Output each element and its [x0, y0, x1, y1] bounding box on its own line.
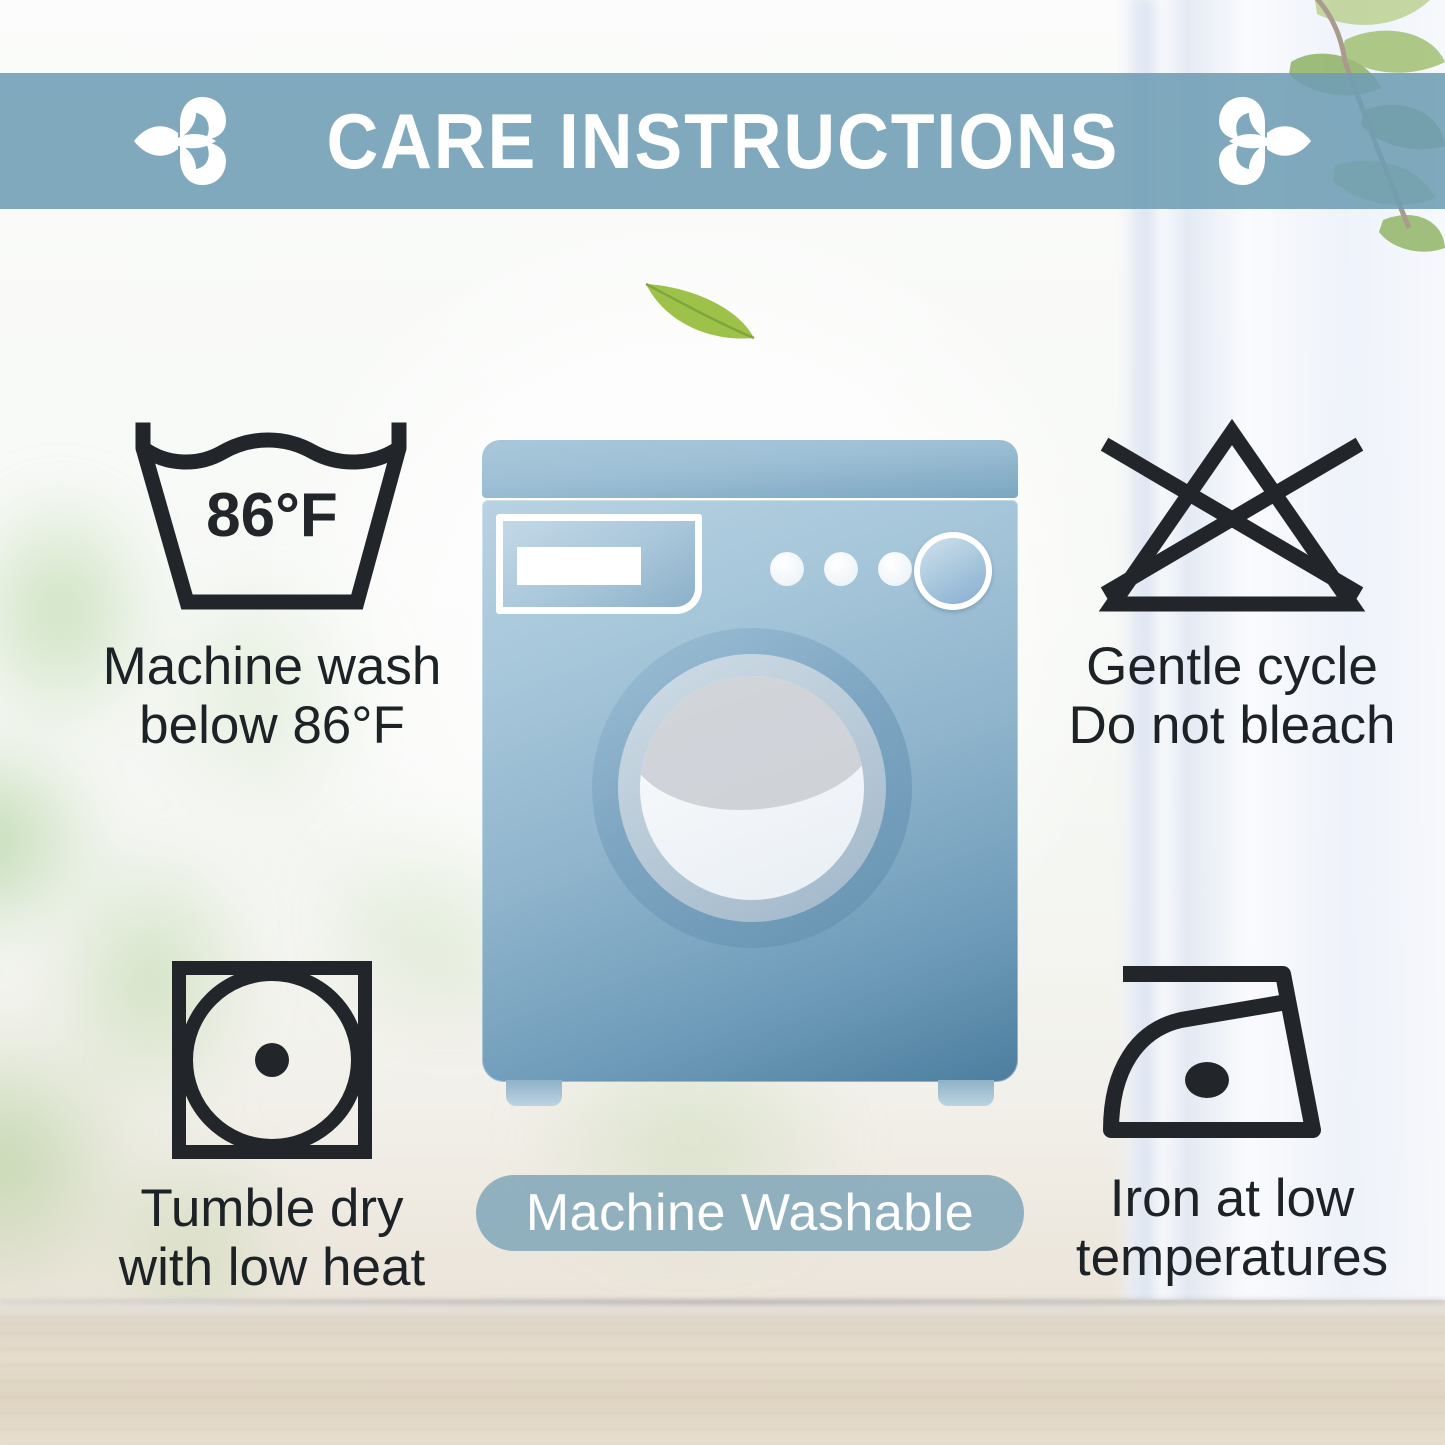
banner: CARE INSTRUCTIONS	[0, 73, 1445, 209]
porthole-glass	[640, 676, 864, 900]
wood-table-edge-line	[0, 1299, 1445, 1305]
fleur-de-lis-icon	[1201, 89, 1319, 193]
porthole-glass-reflection	[640, 676, 864, 810]
washing-machine-top-lid	[482, 440, 1018, 498]
care-icon-machine-wash: 86°F Machine wash below 86°F	[62, 418, 482, 756]
care-icon-do-not-bleach: Gentle cycle Do not bleach	[1022, 418, 1442, 756]
status-badge-label: Machine Washable	[526, 1183, 974, 1243]
care-icon-label: Gentle cycle Do not bleach	[1068, 637, 1395, 756]
wash-tub-icon: 86°F	[127, 418, 417, 623]
care-icon-iron-low: Iron at low temperatures	[1022, 960, 1442, 1288]
detergent-drawer-handle	[517, 547, 641, 585]
status-badge: Machine Washable	[476, 1175, 1024, 1251]
page-title: CARE INSTRUCTIONS	[326, 96, 1119, 187]
care-icon-label: Tumble dry with low heat	[119, 1179, 425, 1298]
washing-machine-foot	[938, 1080, 994, 1106]
care-instructions-infographic: CARE INSTRUCTIONS 86	[0, 0, 1445, 1445]
iron-low-temperature-icon	[1097, 960, 1367, 1155]
tumble-dry-low-icon	[157, 960, 387, 1165]
washing-machine-foot	[506, 1080, 562, 1106]
do-not-bleach-triangle-icon	[1087, 418, 1377, 623]
control-knob	[914, 532, 992, 610]
indicator-light	[878, 552, 912, 586]
wood-grain-texture	[0, 1300, 1445, 1445]
leaf-icon	[640, 272, 760, 352]
indicator-light	[770, 552, 804, 586]
care-icon-tumble-dry: Tumble dry with low heat	[62, 960, 482, 1298]
care-icon-label: Machine wash below 86°F	[103, 637, 442, 756]
care-icon-label: Iron at low temperatures	[1076, 1169, 1388, 1288]
indicator-light	[824, 552, 858, 586]
wash-temperature-value: 86°F	[206, 481, 338, 550]
fleur-de-lis-icon	[126, 89, 244, 193]
detergent-drawer	[496, 514, 702, 614]
banner-inner: CARE INSTRUCTIONS	[126, 89, 1320, 193]
washing-machine-illustration	[470, 440, 1030, 1130]
